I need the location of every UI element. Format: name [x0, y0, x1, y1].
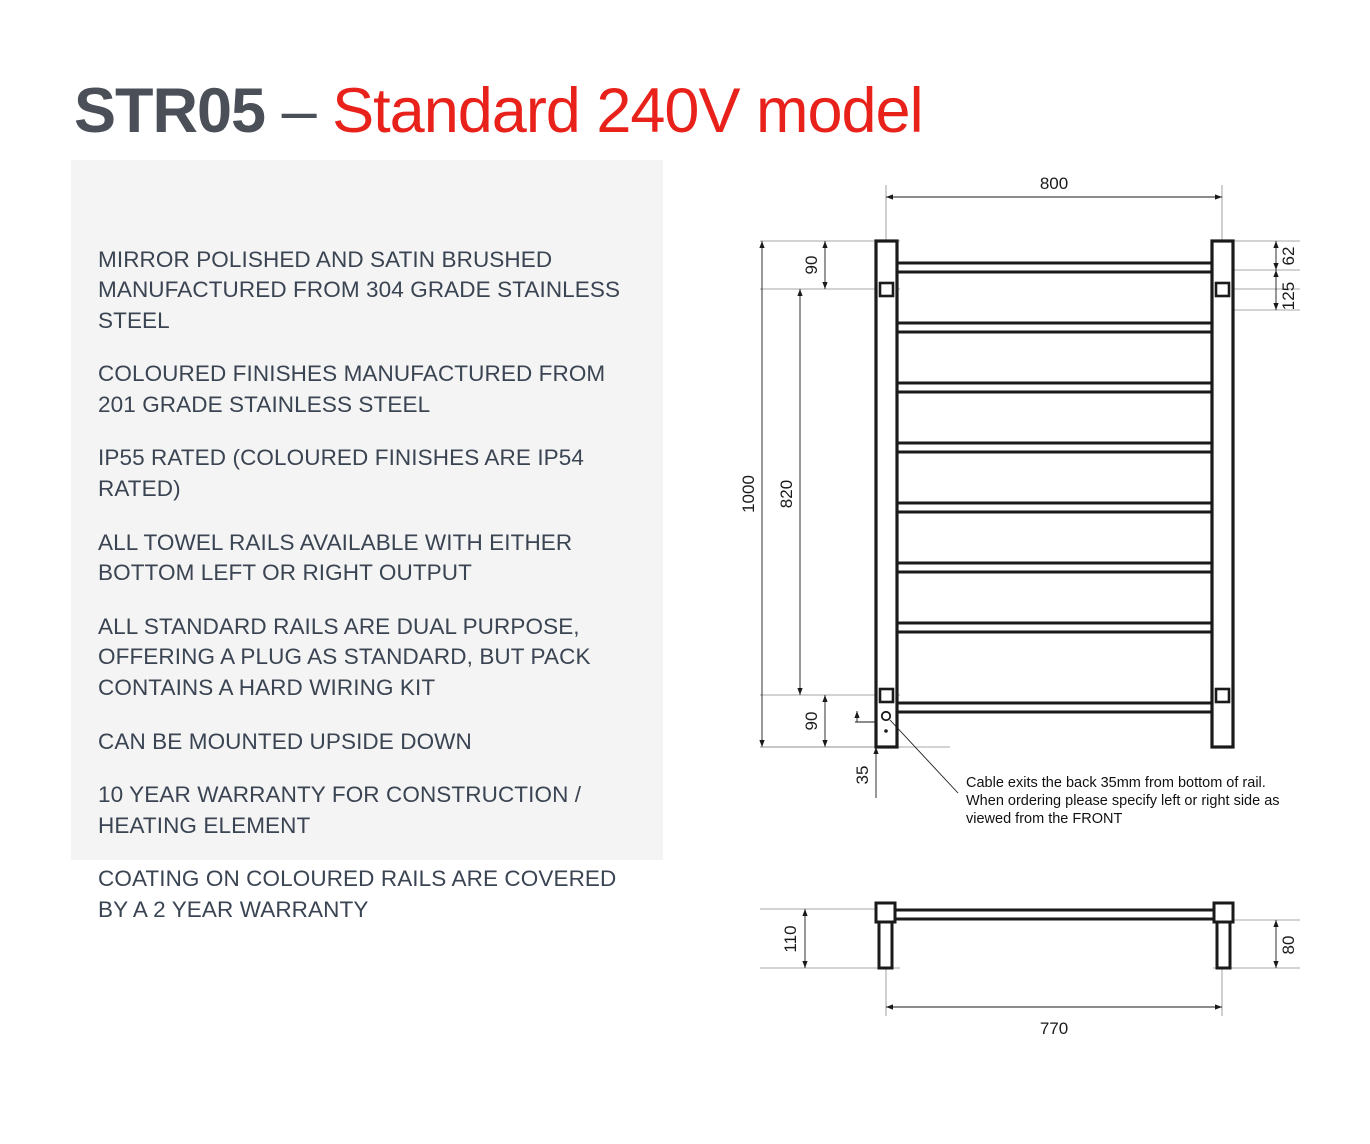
dimension-bracket-span-width: 770: [886, 1007, 1222, 1038]
dim-label-820: 820: [777, 480, 796, 508]
spec-item: ALL TOWEL RAILS AVAILABLE WITH EITHER BO…: [98, 528, 623, 590]
dimension-top-offset: 90: [802, 241, 825, 289]
towel-rail: [892, 563, 1216, 572]
spec-item: CAN BE MOUNTED UPSIDE DOWN: [98, 727, 623, 758]
dimension-post-depth: 80: [1276, 920, 1298, 968]
side-left-bracket: [876, 903, 895, 968]
dim-label-35: 35: [853, 766, 872, 785]
cable-note-line: When ordering please specify left or rig…: [966, 793, 1280, 809]
spec-item: COATING ON COLOURED RAILS ARE COVERED BY…: [98, 864, 623, 926]
title-model-code: STR05: [74, 76, 265, 146]
wall-bracket: [1216, 283, 1229, 296]
wall-bracket: [880, 283, 893, 296]
dimension-bracket-span: 820: [777, 289, 800, 695]
dimension-total-depth: 110: [781, 909, 805, 968]
dim-label-1000: 1000: [739, 475, 758, 513]
dim-label-80: 80: [1279, 936, 1298, 955]
side-rail-profile: [892, 910, 1216, 919]
dimension-overall-width: 800: [886, 174, 1222, 197]
spec-item: IP55 RATED (COLOURED FINISHES ARE IP54 R…: [98, 443, 623, 505]
towel-rail: [892, 503, 1216, 512]
spec-item: MIRROR POLISHED AND SATIN BRUSHED MANUFA…: [98, 245, 623, 337]
title-model-name: Standard 240V model: [332, 76, 922, 146]
dimension-first-rail-to-bracket: 125: [1276, 270, 1298, 310]
cable-exit-dot: [884, 729, 888, 733]
towel-rail: [892, 703, 1216, 712]
dim-label-110: 110: [781, 925, 800, 952]
cable-note-line: Cable exits the back 35mm from bottom of…: [966, 775, 1266, 791]
towel-rails: [892, 263, 1216, 712]
cable-exit-icon: [882, 712, 890, 720]
dim-label-800: 800: [1040, 174, 1068, 193]
specification-panel: MIRROR POLISHED AND SATIN BRUSHED MANUFA…: [71, 160, 663, 860]
cable-note-line: viewed from the FRONT: [966, 811, 1122, 827]
towel-rail: [892, 263, 1216, 272]
towel-rail: [892, 623, 1216, 632]
towel-rail: [892, 443, 1216, 452]
side-view: 110 80 770: [760, 903, 1300, 1038]
dimension-cable-exit: 35: [760, 711, 950, 798]
dim-label-125: 125: [1279, 282, 1298, 310]
towel-rail: [892, 383, 1216, 392]
spec-item: COLOURED FINISHES MANUFACTURED FROM 201 …: [98, 359, 623, 421]
dim-label-90-top: 90: [802, 256, 821, 275]
dimension-bottom-offset: 90: [802, 695, 825, 747]
dimension-top-to-first-rail: 62: [1276, 241, 1298, 270]
dimension-overall-height: 1000: [739, 241, 762, 747]
left-post: [876, 241, 897, 747]
spec-item: ALL STANDARD RAILS ARE DUAL PURPOSE, OFF…: [98, 612, 623, 704]
towel-rail: [892, 323, 1216, 332]
front-view: 800 1000 820 90 90 35: [739, 174, 1300, 827]
dim-label-62: 62: [1279, 247, 1298, 266]
dim-label-90-bottom: 90: [802, 712, 821, 731]
dim-label-770: 770: [1040, 1019, 1068, 1038]
page-title: STR05 – Standard 240V model: [74, 78, 923, 144]
title-dash: –: [282, 76, 316, 146]
wall-bracket: [1216, 689, 1229, 702]
wall-bracket: [880, 689, 893, 702]
side-right-bracket: [1214, 903, 1233, 968]
right-post: [1212, 241, 1233, 747]
spec-item: 10 YEAR WARRANTY FOR CONSTRUCTION / HEAT…: [98, 780, 623, 842]
leader-line: [890, 720, 958, 793]
technical-drawing: 800 1000 820 90 90 35: [700, 150, 1360, 1050]
